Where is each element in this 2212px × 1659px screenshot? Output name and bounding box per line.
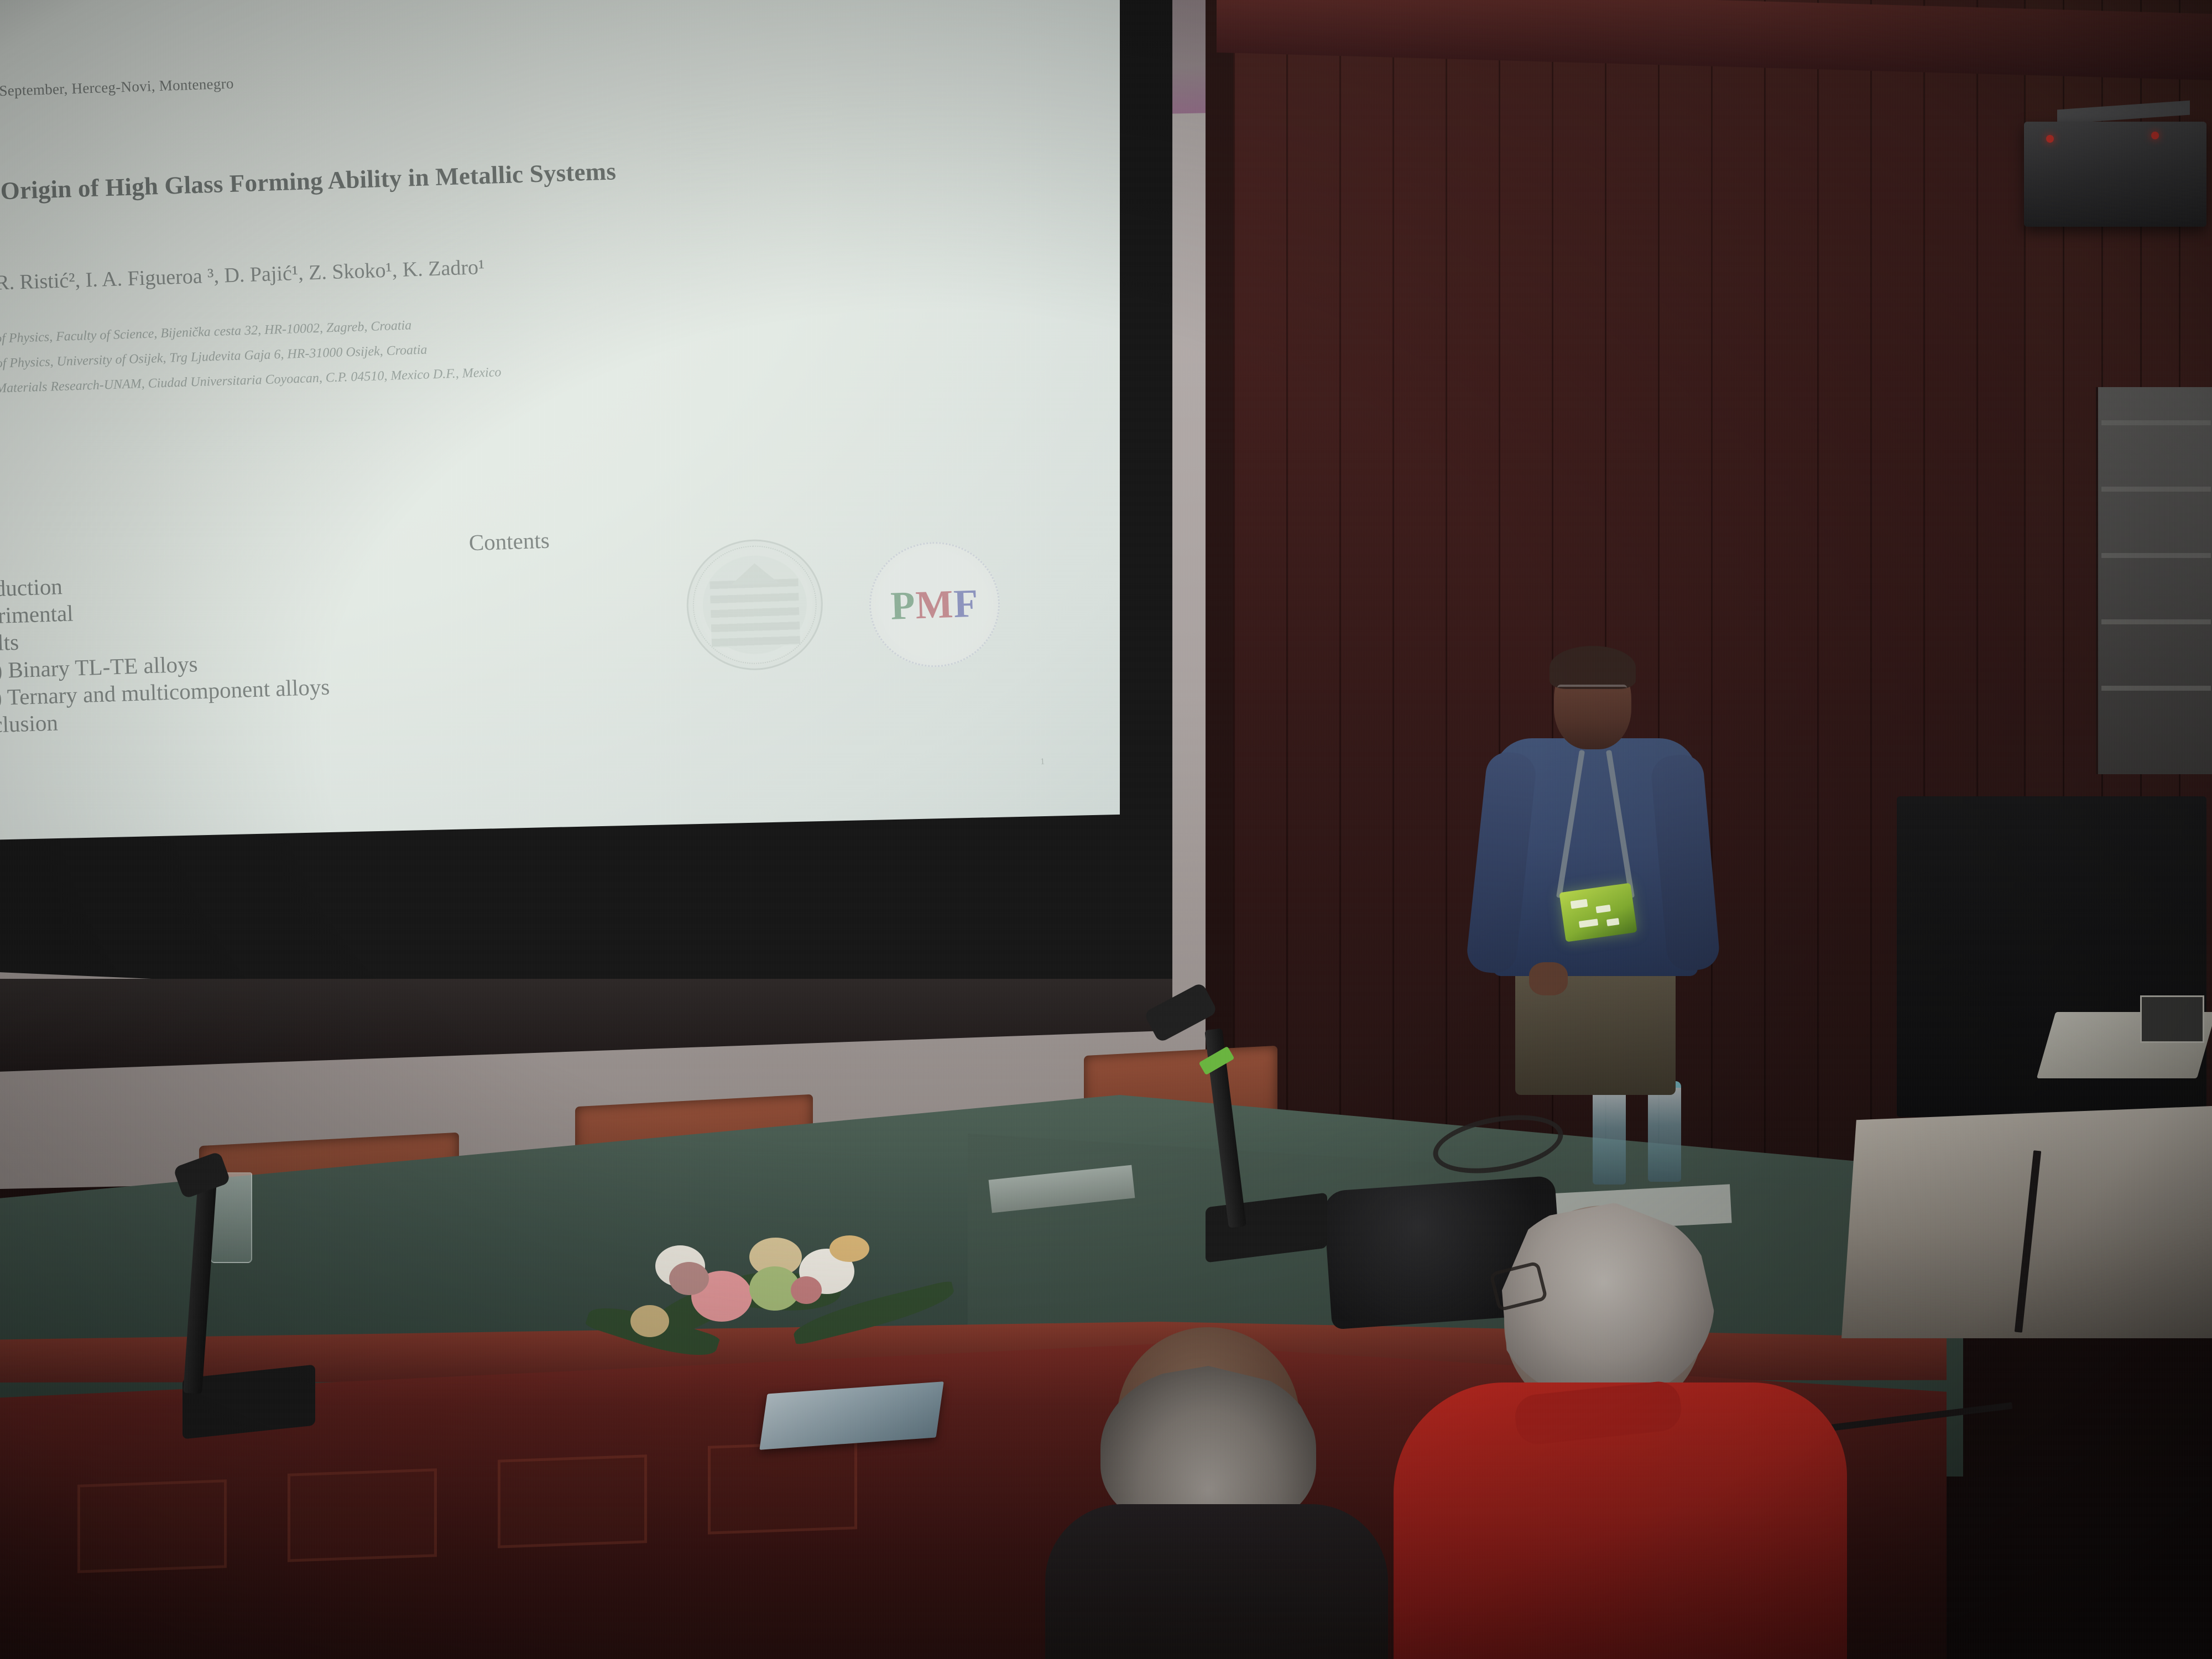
conference-badge bbox=[1559, 883, 1637, 942]
laptop-screen bbox=[2140, 995, 2204, 1043]
presentation-slide: 18, 03.-07. September, Herceg-Novi, Mont… bbox=[0, 0, 1120, 841]
flower-arrangement bbox=[608, 1233, 962, 1388]
presenter-hair bbox=[1550, 646, 1636, 689]
slide-authors: Babić¹, R. Ristić², I. A. Figueroa ³, D.… bbox=[0, 240, 952, 298]
slide-table-of-contents: Introduction Experimental Results A) Bin… bbox=[0, 551, 729, 739]
bookshelf bbox=[2096, 387, 2212, 774]
pmf-letter-f: F bbox=[953, 580, 979, 627]
glasses-icon bbox=[1557, 685, 1627, 698]
conference-header-line: 18, 03.-07. September, Herceg-Novi, Mont… bbox=[0, 64, 592, 102]
audience-member-body bbox=[1045, 1504, 1388, 1659]
presenter-hand bbox=[1529, 962, 1568, 995]
pmf-logo: P M F bbox=[867, 540, 1001, 669]
water-bottle bbox=[1593, 1084, 1626, 1185]
presenter bbox=[1471, 636, 1725, 1089]
pmf-letter-m: M bbox=[915, 581, 954, 628]
photo-scene: 18, 03.-07. September, Herceg-Novi, Mont… bbox=[0, 0, 2212, 1659]
ceiling-speaker bbox=[2024, 122, 2206, 227]
contents-heading: Contents bbox=[468, 527, 550, 556]
slide-number: 1 bbox=[1040, 757, 1045, 767]
pmf-letter-p: P bbox=[890, 582, 916, 629]
water-bottle bbox=[1648, 1081, 1681, 1182]
slide-title: On the Origin of High Glass Forming Abil… bbox=[0, 146, 944, 208]
projection-screen: 18, 03.-07. September, Herceg-Novi, Mont… bbox=[0, 0, 1120, 841]
